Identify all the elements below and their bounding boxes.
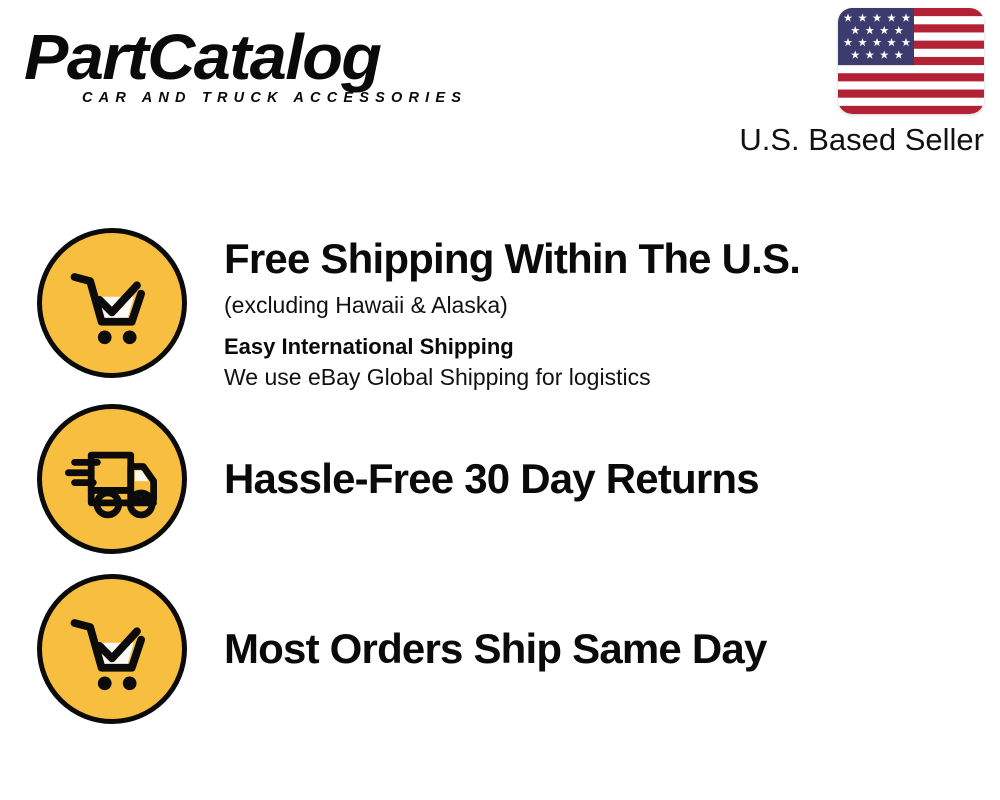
- feature-secondary-note: We use eBay Global Shipping for logistic…: [224, 362, 1000, 392]
- us-based-seller-label: U.S. Based Seller: [712, 122, 984, 158]
- icon-circle: [37, 404, 187, 554]
- feature-row: Hassle-Free 30 Day Returns: [0, 404, 1000, 556]
- us-based-seller-badge: U.S. Based Seller: [712, 8, 992, 158]
- feature-heading: Hassle-Free 30 Day Returns: [224, 454, 1000, 504]
- icon-circle: [37, 574, 187, 724]
- feature-row: Most Orders Ship Same Day: [0, 574, 1000, 726]
- feature-subtext: (excluding Hawaii & Alaska): [224, 290, 1000, 320]
- feature-heading: Most Orders Ship Same Day: [224, 624, 1000, 674]
- feature-icon-container: [0, 404, 224, 554]
- feature-text-block: Free Shipping Within The U.S. (excluding…: [224, 228, 1000, 392]
- feature-heading: Free Shipping Within The U.S.: [224, 234, 1000, 284]
- icon-circle: [37, 228, 187, 378]
- feature-list: Free Shipping Within The U.S. (excluding…: [0, 228, 1000, 726]
- brand-wordmark: PartCatalog: [24, 22, 513, 92]
- feature-row: Free Shipping Within The U.S. (excluding…: [0, 228, 1000, 392]
- feature-text-block: Most Orders Ship Same Day: [224, 574, 1000, 674]
- partcatalog-logo: PartCatalog CAR AND TRUCK ACCESSORIES: [24, 22, 494, 114]
- feature-icon-container: [0, 574, 224, 724]
- feature-text-block: Hassle-Free 30 Day Returns: [224, 404, 1000, 504]
- delivery-truck-icon: [60, 427, 164, 531]
- shopping-cart-check-icon: [60, 597, 164, 701]
- promo-banner: PartCatalog CAR AND TRUCK ACCESSORIES: [0, 0, 1000, 800]
- banner-header: PartCatalog CAR AND TRUCK ACCESSORIES: [0, 0, 1000, 170]
- feature-icon-container: [0, 228, 224, 378]
- us-flag-icon: [838, 8, 984, 114]
- feature-secondary-heading: Easy International Shipping: [224, 333, 1000, 361]
- shopping-cart-check-icon: [60, 251, 164, 355]
